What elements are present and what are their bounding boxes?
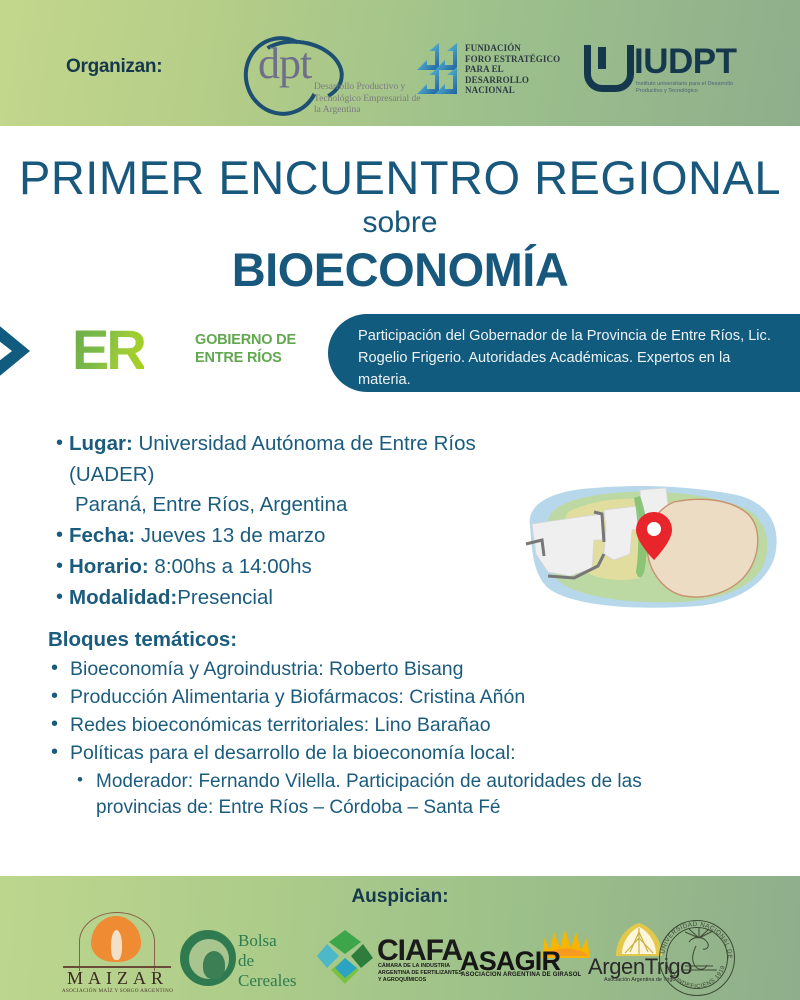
location-map bbox=[508, 468, 796, 616]
fundacion-foro-logo: FUNDACIÓN FORO ESTRATÉGICO PARA EL DESAR… bbox=[415, 42, 565, 102]
bolsa-line-2: de Cereales bbox=[238, 951, 310, 991]
iudpt-logo: IUDPT Instituto universitario para el De… bbox=[584, 45, 754, 101]
sponsor-bolsa-de-cereales: Bolsa de Cereales bbox=[180, 928, 310, 986]
iudpt-subtitle: Instituto universitario para el Desarrol… bbox=[636, 81, 756, 95]
title-zone: PRIMER ENCUENTRO REGIONAL sobre BIOECONO… bbox=[0, 126, 800, 302]
foro-line-1: FUNDACIÓN bbox=[465, 43, 560, 54]
block-item: Producción Alimentaria y Biofármacos: Cr… bbox=[48, 683, 668, 711]
ciafa-subtitle: CÁMARA DE LA INDUSTRIA ARGENTINA DE FERT… bbox=[378, 963, 464, 984]
block-item: Redes bioeconómicas territoriales: Lino … bbox=[48, 711, 668, 739]
asagir-subtitle: ASOCIACION ARGENTINA DE GIRASOL bbox=[461, 972, 581, 978]
detail-label-fecha: Fecha: bbox=[69, 524, 135, 547]
thematic-blocks: Bloques temáticos: Bioeconomía y Agroind… bbox=[48, 628, 668, 821]
event-poster: Organizan: dpt Desarrollo Productivo y T… bbox=[0, 0, 800, 1000]
maizar-kernel-icon bbox=[111, 930, 122, 960]
description-text: Participación del Gobernador de la Provi… bbox=[358, 325, 778, 391]
foro-text-block: FUNDACIÓN FORO ESTRATÉGICO PARA EL DESAR… bbox=[465, 43, 560, 96]
foro-arrows-icon bbox=[415, 42, 461, 94]
sponsor-logos: MAIZAR ASOCIACIÓN MAÍZ Y SORGO ARGENTINO… bbox=[0, 916, 800, 996]
detail-continuation-lugar: Paraná, Entre Ríos, Argentina bbox=[56, 490, 516, 520]
er-gov-line2: ENTRE RÍOS bbox=[195, 349, 296, 367]
maizar-wordmark: MAIZAR bbox=[55, 968, 180, 989]
description-pill: Participación del Gobernador de la Provi… bbox=[328, 314, 800, 392]
er-government-text: GOBIERNO DE ENTRE RÍOS bbox=[195, 331, 296, 367]
detail-item-fecha: Fecha: Jueves 13 de marzo bbox=[56, 520, 516, 551]
foro-line-3: PARA EL bbox=[465, 64, 560, 75]
dpt-logo: dpt Desarrollo Productivo y Tecnológico … bbox=[240, 34, 415, 118]
auspician-label: Auspician: bbox=[0, 886, 800, 908]
block-item: Políticas para el desarrollo de la bioec… bbox=[48, 739, 668, 767]
detail-value-fecha: Jueves 13 de marzo bbox=[135, 524, 325, 547]
detail-label-horario: Horario: bbox=[69, 555, 149, 578]
detail-value-modalidad: Presencial bbox=[177, 586, 273, 609]
svg-text:LUX INDEFICIENS 1919: LUX INDEFICIENS 1919 bbox=[666, 965, 727, 990]
sponsor-universidad-nacional-del-litoral: UNIVERSIDAD NACIONAL DEL LITORAL LUX IND… bbox=[655, 918, 743, 998]
bolsa-seal-icon bbox=[180, 930, 236, 986]
poster-title-line3: BIOECONOMÍA bbox=[0, 242, 800, 297]
er-gov-line1: GOBIERNO DE bbox=[195, 331, 296, 349]
iudpt-u-icon bbox=[584, 45, 634, 92]
dpt-wordmark: dpt bbox=[258, 38, 311, 89]
poster-title-line1: PRIMER ENCUENTRO REGIONAL bbox=[0, 150, 800, 205]
detail-label-modalidad: Modalidad: bbox=[69, 586, 177, 609]
iudpt-wordmark: IUDPT bbox=[634, 42, 737, 82]
detail-label-lugar: Lugar: bbox=[69, 432, 133, 455]
foro-line-4: DESARROLLO bbox=[465, 75, 560, 86]
event-details-list: Lugar: Universidad Autónoma de Entre Río… bbox=[56, 428, 516, 613]
organizan-label: Organizan: bbox=[66, 56, 162, 78]
chevron-notch-icon bbox=[0, 334, 12, 368]
sponsor-maizar: MAIZAR ASOCIACIÓN MAÍZ Y SORGO ARGENTINO bbox=[55, 916, 180, 994]
bolsa-line-1: Bolsa bbox=[238, 931, 310, 951]
dpt-subtitle: Desarrollo Productivo y Tecnológico Empr… bbox=[314, 82, 424, 117]
maizar-subtitle: ASOCIACIÓN MAÍZ Y SORGO ARGENTINO bbox=[55, 988, 180, 994]
bolsa-wordmark: Bolsa de Cereales bbox=[238, 931, 310, 991]
iudpt-u-stem-icon bbox=[598, 47, 606, 69]
detail-item-modalidad: Modalidad:Presencial bbox=[56, 582, 516, 613]
sponsor-asagir: ASAGIR ASOCIACION ARGENTINA DE GIRASOL bbox=[460, 920, 595, 986]
block-sub-item: Moderador: Fernando Vilella. Participaci… bbox=[48, 769, 668, 821]
detail-item-lugar: Lugar: Universidad Autónoma de Entre Río… bbox=[56, 428, 516, 490]
unl-seal-icon: UNIVERSIDAD NACIONAL DEL LITORAL LUX IND… bbox=[655, 918, 743, 998]
ciafa-diamond-icon bbox=[315, 928, 375, 988]
poster-title-line2: sobre bbox=[0, 206, 800, 240]
detail-item-horario: Horario: 8:00hs a 14:00hs bbox=[56, 551, 516, 582]
sponsor-ciafa: CIAFA CÁMARA DE LA INDUSTRIA ARGENTINA D… bbox=[315, 922, 460, 988]
foro-line-2: FORO ESTRATÉGICO bbox=[465, 54, 560, 65]
header-band: Organizan: dpt Desarrollo Productivo y T… bbox=[0, 0, 800, 126]
er-letters: ER bbox=[72, 317, 144, 382]
bolsa-head-icon bbox=[203, 951, 225, 979]
foro-line-5: NACIONAL bbox=[465, 85, 560, 96]
block-item: Bioeconomía y Agroindustria: Roberto Bis… bbox=[48, 655, 668, 683]
unl-figure-icon bbox=[681, 928, 717, 970]
unl-motto-text: LUX INDEFICIENS 1919 bbox=[666, 965, 727, 990]
bolsa-seal-inner-icon bbox=[188, 938, 230, 980]
entre-rios-logo: ER GOBIERNO DE ENTRE RÍOS bbox=[72, 321, 322, 379]
map-graphic bbox=[508, 468, 796, 616]
footer-band: Auspician: MAIZAR ASOCIACIÓN MAÍZ Y SORG… bbox=[0, 876, 800, 1000]
detail-value-horario: 8:00hs a 14:00hs bbox=[149, 555, 312, 578]
blocks-title: Bloques temáticos: bbox=[48, 628, 668, 652]
